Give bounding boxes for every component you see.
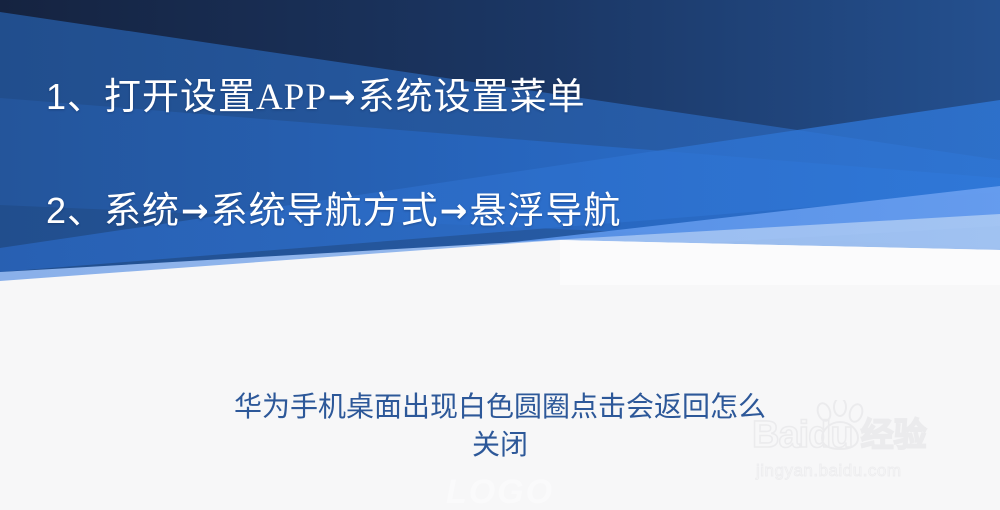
baidu-brand-first: Bai [752,415,808,455]
slide-canvas: 1、打开设置APP→系统设置菜单 2、系统→系统导航方式→悬浮导航 华为手机桌面… [0,0,1000,510]
baidu-jingyan-watermark: Bai du 经验 jingyan.baidu.com [752,412,992,492]
baidu-watermark-url: jingyan.baidu.com [756,461,902,481]
baidu-brand-suffix: 经验 [861,417,927,453]
blue-diagonal-banner [0,0,1000,285]
paw-print-icon [812,400,868,452]
banner-shapes [0,0,1000,285]
